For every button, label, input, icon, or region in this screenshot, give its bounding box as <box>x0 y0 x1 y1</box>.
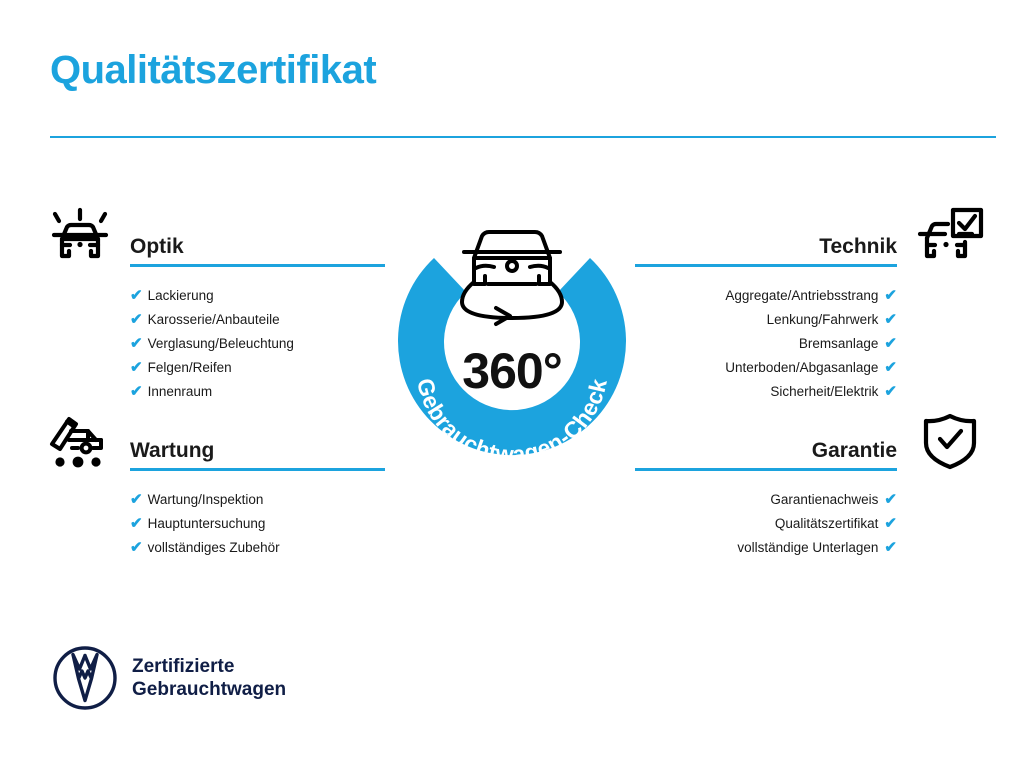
section-wartung-header: Wartung <box>130 440 385 471</box>
section-optik-header: Optik <box>130 236 385 267</box>
list-item: Unterboden/Abgasanlage✔ <box>635 356 897 380</box>
list-item-label: vollständige Unterlagen <box>737 540 878 555</box>
check-icon: ✔ <box>130 335 143 352</box>
check-icon: ✔ <box>884 515 897 532</box>
check-icon: ✔ <box>130 383 143 400</box>
section-garantie-list: Garantienachweis✔ Qualitätszertifikat✔ v… <box>635 488 897 560</box>
list-item-label: Wartung/Inspektion <box>148 492 264 507</box>
wrench-car-icon <box>45 410 115 472</box>
check-icon: ✔ <box>884 311 897 328</box>
list-item: Lenkung/Fahrwerk✔ <box>635 308 897 332</box>
list-item-label: Hauptuntersuchung <box>148 516 266 531</box>
title-divider <box>50 136 996 138</box>
list-item: ✔Hauptuntersuchung <box>130 512 385 536</box>
check-icon: ✔ <box>130 287 143 304</box>
list-item-label: Sicherheit/Elektrik <box>770 384 878 399</box>
section-title: Technik <box>635 236 897 258</box>
section-technik-header: Technik <box>635 236 897 267</box>
check-icon: ✔ <box>130 515 143 532</box>
section-title: Wartung <box>130 440 385 462</box>
list-item-label: Karosserie/Anbauteile <box>148 312 280 327</box>
vw-wordmark: Zertifizierte Gebrauchtwagen <box>132 655 286 701</box>
section-title: Garantie <box>635 440 897 462</box>
vw-wordmark-line1: Zertifizierte <box>132 655 286 678</box>
section-divider <box>130 468 385 471</box>
vw-wordmark-line2: Gebrauchtwagen <box>132 678 286 701</box>
check-icon: ✔ <box>130 539 143 556</box>
list-item: ✔vollständiges Zubehör <box>130 536 385 560</box>
section-technik-list: Aggregate/Antriebsstrang✔ Lenkung/Fahrwe… <box>635 284 897 404</box>
list-item: ✔Lackierung <box>130 284 385 308</box>
section-divider <box>130 264 385 267</box>
car-rotate-icon <box>462 232 562 324</box>
list-item-label: Lenkung/Fahrwerk <box>767 312 879 327</box>
section-title: Optik <box>130 236 385 258</box>
section-wartung-list: ✔Wartung/Inspektion ✔Hauptuntersuchung ✔… <box>130 488 385 560</box>
list-item: Aggregate/Antriebsstrang✔ <box>635 284 897 308</box>
list-item-label: Garantienachweis <box>770 492 878 507</box>
list-item: ✔Karosserie/Anbauteile <box>130 308 385 332</box>
list-item-label: Felgen/Reifen <box>148 360 232 375</box>
section-divider <box>635 264 897 267</box>
list-item-label: Lackierung <box>148 288 214 303</box>
list-item: ✔Wartung/Inspektion <box>130 488 385 512</box>
car-checkbox-icon <box>915 206 985 268</box>
check-icon: ✔ <box>884 335 897 352</box>
list-item: ✔Innenraum <box>130 380 385 404</box>
section-garantie-header: Garantie <box>635 440 897 471</box>
list-item: Sicherheit/Elektrik✔ <box>635 380 897 404</box>
badge-value: 360° <box>378 342 646 400</box>
check-icon: ✔ <box>884 359 897 376</box>
check-icon: ✔ <box>884 383 897 400</box>
check-icon: ✔ <box>130 311 143 328</box>
check-icon: ✔ <box>884 539 897 556</box>
check-icon: ✔ <box>884 287 897 304</box>
list-item-label: Innenraum <box>148 384 213 399</box>
vw-logo-icon <box>52 645 118 711</box>
list-item-label: Verglasung/Beleuchtung <box>148 336 294 351</box>
list-item: Garantienachweis✔ <box>635 488 897 512</box>
list-item: Bremsanlage✔ <box>635 332 897 356</box>
quality-certificate-page: Qualitätszertifikat Optik <box>0 0 1024 768</box>
list-item: ✔Verglasung/Beleuchtung <box>130 332 385 356</box>
section-divider <box>635 468 897 471</box>
list-item-label: Qualitätszertifikat <box>775 516 879 531</box>
list-item-label: vollständiges Zubehör <box>148 540 280 555</box>
check-icon: ✔ <box>130 491 143 508</box>
list-item-label: Aggregate/Antriebsstrang <box>725 288 878 303</box>
check-icon: ✔ <box>884 491 897 508</box>
car-shine-icon <box>45 206 115 268</box>
check-icon: ✔ <box>130 359 143 376</box>
list-item-label: Bremsanlage <box>799 336 879 351</box>
360-check-badge: Gebrauchtwagen-Check 360° <box>378 196 646 486</box>
vw-logo-lockup: Zertifizierte Gebrauchtwagen <box>52 645 286 711</box>
list-item: vollständige Unterlagen✔ <box>635 536 897 560</box>
list-item-label: Unterboden/Abgasanlage <box>725 360 878 375</box>
section-optik-list: ✔Lackierung ✔Karosserie/Anbauteile ✔Verg… <box>130 284 385 404</box>
list-item: Qualitätszertifikat✔ <box>635 512 897 536</box>
list-item: ✔Felgen/Reifen <box>130 356 385 380</box>
page-title: Qualitätszertifikat <box>50 50 376 90</box>
shield-check-icon <box>915 410 985 472</box>
